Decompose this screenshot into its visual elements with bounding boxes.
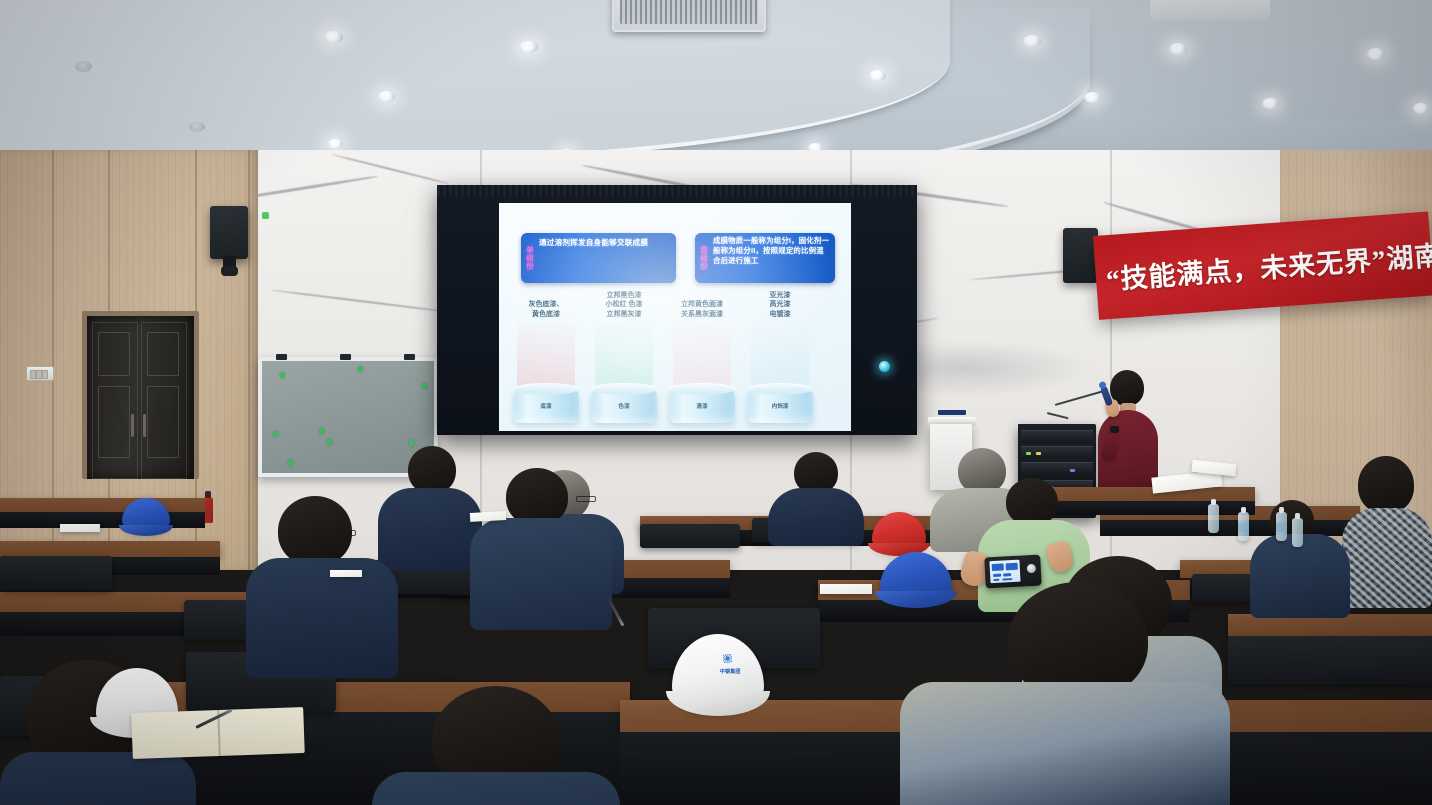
slide-cylinder-label: 内饰漆 [747, 402, 813, 410]
water-bottle [1276, 512, 1287, 541]
slide-column-caption: 立邦黄色面漆 关系黑灰面漆 [665, 300, 739, 319]
screen-top-rail [437, 185, 917, 197]
wall-speaker-left [210, 206, 248, 259]
downlight [1084, 92, 1101, 103]
projection-screen: 单组份 通过溶剂挥发自身能够交联成膜 双组份 成膜物质一般称为组分I，固化剂一般… [437, 185, 917, 435]
chair-back [0, 556, 112, 590]
torso [768, 488, 864, 546]
papers-on-desk [330, 570, 362, 577]
slide-column-caption: 灰色底漆、 黄色底漆 [509, 300, 583, 319]
torso [372, 772, 620, 805]
pin [327, 439, 332, 445]
head [1006, 478, 1058, 526]
papers-on-desk [820, 584, 872, 594]
water-bottle [1238, 512, 1249, 541]
wristwatch [1110, 426, 1119, 433]
phone-viewfinder [989, 560, 1020, 584]
slide-box-body: 通过溶剂挥发自身能够交联成膜 [538, 233, 676, 283]
slide-box-body: 成膜物质一般称为组分I，固化剂一般称为组分II，按照规定的比例混合后进行施工 [712, 233, 835, 283]
hard-hat-logo-text: 中钢集团 [720, 668, 741, 675]
training-room-photo: 单组份 通过溶剂挥发自身能够交联成膜 双组份 成膜物质一般称为组分I，固化剂一般… [0, 0, 1432, 805]
slide-cylinder: 色漆 [591, 389, 657, 423]
downlight [1023, 35, 1041, 47]
water-bottle [1292, 518, 1303, 547]
banner-text: “技能满点，未来无界”湖南中钢管培 [1095, 225, 1432, 298]
torso [900, 682, 1230, 805]
slide-column: 亚光漆 高光漆 电镀漆 内饰漆 [747, 283, 813, 423]
light-switch-panel[interactable] [26, 366, 54, 381]
slide-column-caption: 立邦黑色漆 小松红 色漆 立邦黑灰漆 [587, 291, 661, 320]
slide-box-single-component: 单组份 通过溶剂挥发自身能够交联成膜 [521, 233, 676, 283]
slide-content: 单组份 通过溶剂挥发自身能够交联成膜 双组份 成膜物质一般称为组分I，固化剂一般… [499, 203, 851, 431]
pin [422, 383, 427, 389]
hard-hat-logo-mark-icon [723, 654, 732, 663]
audience-member-foreground [900, 582, 1230, 805]
pin [288, 460, 293, 466]
papers-on-desk [470, 511, 506, 522]
chair-back [640, 524, 740, 548]
audience-member [246, 496, 406, 676]
slide-column: 立邦黄色面漆 关系黑灰面漆 清漆 [669, 283, 735, 423]
audience-member [470, 468, 620, 628]
audience-member-foreground [372, 686, 622, 805]
downlight [519, 41, 538, 53]
downlight [1367, 48, 1385, 60]
downlight [75, 61, 92, 72]
downlight [1169, 43, 1187, 55]
slide-box-tag: 单组份 [521, 233, 538, 283]
double-door[interactable] [82, 311, 199, 479]
slide-cylinder-label: 清漆 [669, 402, 735, 410]
downlight [189, 122, 205, 132]
pin [273, 431, 278, 437]
downlight [328, 139, 343, 149]
power-indicator-icon [879, 361, 890, 372]
glasses-icon [1112, 385, 1140, 391]
slide-column: 立邦黑色漆 小松红 色漆 立邦黑灰漆 色漆 [591, 283, 657, 423]
torso [0, 752, 196, 805]
downlight [378, 91, 395, 102]
slide-column-caption: 亚光漆 高光漆 电镀漆 [743, 291, 817, 320]
pin [280, 372, 285, 378]
downlight [1262, 98, 1279, 109]
table-row-3 [0, 541, 220, 557]
pin [319, 428, 324, 434]
slide-column: 灰色底漆、 黄色底漆 底漆 [513, 283, 579, 423]
audience-member [760, 452, 870, 542]
podium-display-strip [938, 410, 966, 415]
head [408, 446, 456, 494]
pin [358, 366, 363, 372]
slide-box-two-component: 双组份 成膜物质一般称为组分I，固化剂一般称为组分II，按照规定的比例混合后进行… [695, 233, 835, 283]
ac-vent-secondary-icon [1150, 0, 1270, 20]
downlight [869, 70, 886, 81]
papers-on-desk [60, 524, 100, 532]
slide-cylinder: 底漆 [513, 389, 579, 423]
torso [246, 558, 398, 678]
ac-vent-icon [612, 0, 766, 32]
audience-member [1250, 500, 1360, 620]
table-row-4 [0, 498, 205, 512]
head [1358, 456, 1414, 514]
torso [470, 518, 612, 630]
slide-cylinder: 清漆 [669, 389, 735, 423]
chair-back [1228, 636, 1432, 684]
wall-marker-green [262, 212, 269, 219]
slide-box-tag: 双组份 [695, 233, 712, 283]
slide-cylinder-label: 色漆 [591, 402, 657, 410]
downlight [324, 31, 343, 43]
slide-cylinder: 内饰漆 [747, 389, 813, 423]
slide-cylinder-label: 底漆 [513, 402, 579, 410]
water-bottle [1208, 504, 1219, 533]
downlight [1413, 103, 1429, 114]
glasses-icon [332, 530, 356, 536]
